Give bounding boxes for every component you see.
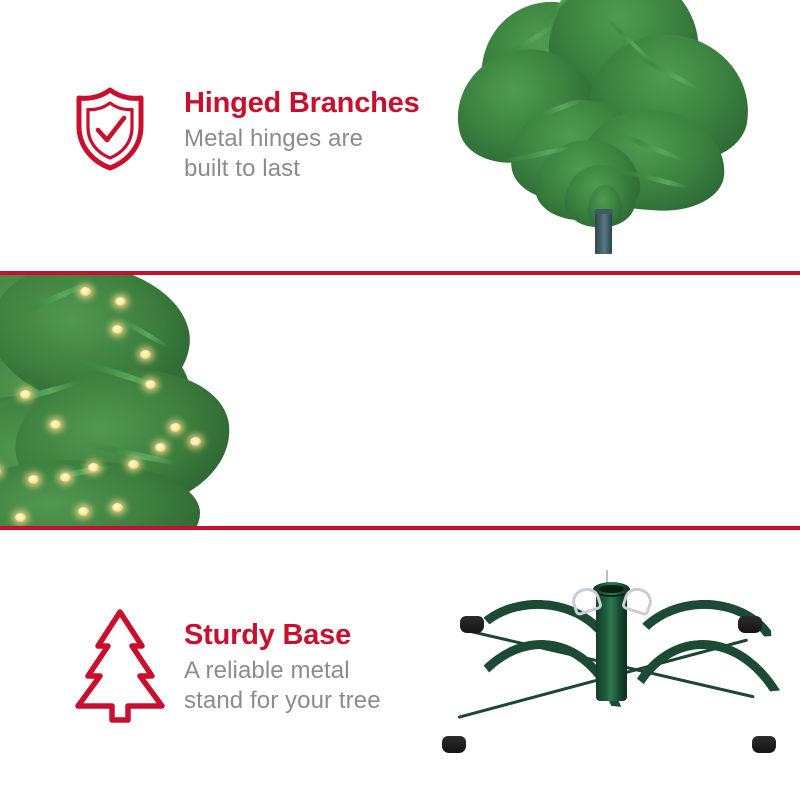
tree-light-bulb [170,423,181,432]
feature-panel-sturdy-base: Sturdy Base A reliable metal stand for y… [0,530,800,800]
stand-foot-cap [738,616,762,633]
feature-text-sturdy-base: Sturdy Base A reliable metal stand for y… [184,618,381,716]
feature-panel-pvc-tips: PVC Tips Flame-retardant and easy to flu… [0,275,800,527]
tree-light-bulb [115,297,126,306]
feature-description: Metal hinges are built to last [184,124,420,184]
christmas-tree-icon [72,606,168,731]
tree-light-bulb [15,513,26,522]
feature-description-line-1: A reliable metal [184,657,350,684]
tree-light-bulb [60,473,71,482]
product-feature-infographic: Hinged Branches Metal hinges are built t… [0,0,800,800]
feature-text-hinged-branches: Hinged Branches Metal hinges are built t… [184,86,420,184]
feature-title: Hinged Branches [184,86,420,120]
tree-light-bulb [50,420,61,429]
tree-light-bulb [140,350,151,359]
tree-light-bulb [78,507,89,516]
tree-stand-photo [400,548,800,788]
hinged-branch-photo [440,0,800,265]
tree-light-bulb [88,463,99,472]
tree-light-bulb [190,437,201,446]
tree-light-bulb [20,390,31,399]
stand-foot-cap [460,616,484,633]
tree-light-bulb [80,287,91,296]
tree-light-bulb [112,503,123,512]
feature-description-line-2: stand for your tree [184,687,381,714]
feature-title: Sturdy Base [184,618,381,652]
stand-foot-cap [752,736,776,753]
stand-foot-cap [442,736,466,753]
tree-light-bulb [128,460,139,469]
stand-post-opening [599,585,624,593]
shield-check-icon [74,86,146,177]
feature-description: A reliable metal stand for your tree [184,656,381,716]
tree-light-bulb [112,325,123,334]
feature-panel-hinged-branches: Hinged Branches Metal hinges are built t… [0,0,800,272]
tree-light-bulb [155,443,166,452]
tree-light-bulb [28,475,39,484]
pre-lit-tree-photo [0,275,290,527]
branch-hinge-pole [595,212,612,254]
feature-description-line-2: built to last [184,155,300,182]
tree-light-bulb [145,380,156,389]
feature-description-line-1: Metal hinges are [184,125,363,152]
